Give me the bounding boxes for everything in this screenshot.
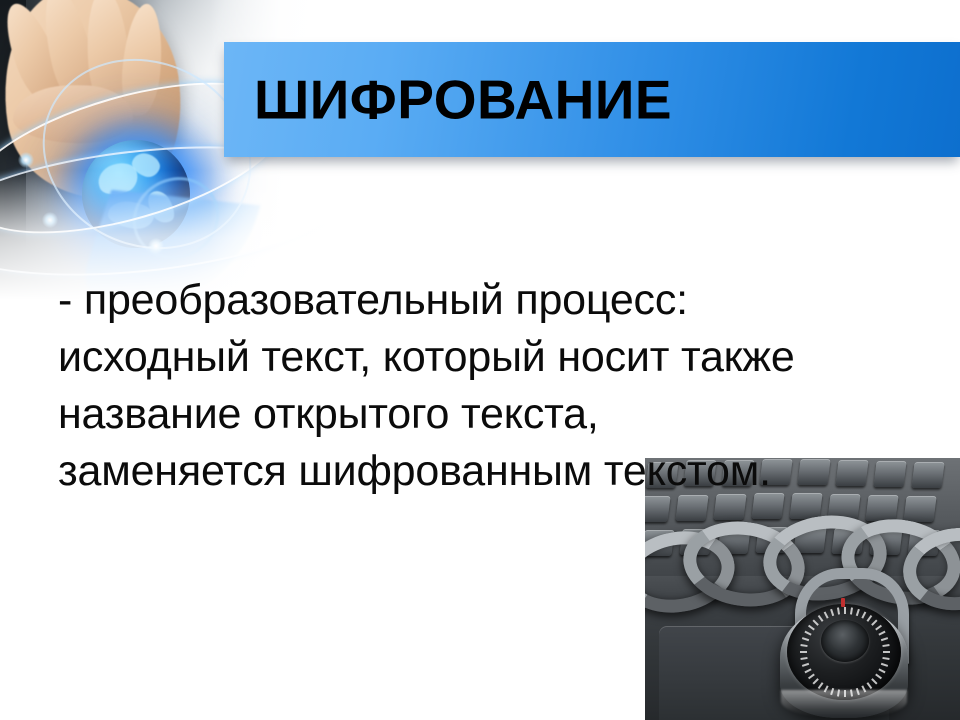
dial-tick [830,609,834,616]
body-line-4: заменяется шифрованным текстом. [58,443,938,500]
dial-tick [881,663,888,667]
body-line-1: - преобразовательный процесс: [58,272,938,329]
dial-tick [812,678,818,684]
dial-index-mark [841,598,845,607]
dial-tick [867,615,873,622]
dial-tick [837,607,840,614]
slide-body-text: - преобразовательный процесс: исходный т… [58,272,938,500]
dial-hub [821,620,869,662]
dial-tick [883,651,890,653]
dial-tick [878,668,885,673]
dial-tick [867,682,873,689]
dial-tick [871,678,877,684]
dial-tick [875,674,882,680]
dial-tick [804,631,811,636]
dial-tick [800,644,807,647]
dial-tick [808,625,815,631]
dial-tick [818,615,824,622]
body-line-2: исходный текст, который носит также [58,329,938,386]
dial-tick [861,611,866,618]
orbit-spark [18,152,34,168]
dial-tick [856,609,860,616]
dial-tick [850,607,853,614]
page-title: ШИФРОВАНИЕ [254,72,672,127]
dial-tick [875,625,882,631]
dial-tick [824,611,829,618]
dial-tick [871,619,877,625]
dial-tick [802,637,809,641]
dial-tick [808,674,815,680]
body-line-3: название открытого текста, [58,386,938,443]
presentation-slide: ШИФРОВАНИЕ [0,0,960,720]
dial-tick [844,607,846,614]
dial-tick [882,644,889,647]
dial-tick [818,682,824,689]
dial-tick [800,657,807,660]
dial-tick [802,663,809,667]
dial-tick [800,651,807,653]
dial-tick [881,637,888,641]
dial-tick [812,619,818,625]
dial-tick [878,631,885,636]
title-banner: ШИФРОВАНИЕ [224,42,960,157]
dial-tick [882,657,889,660]
dial-tick [804,668,811,673]
